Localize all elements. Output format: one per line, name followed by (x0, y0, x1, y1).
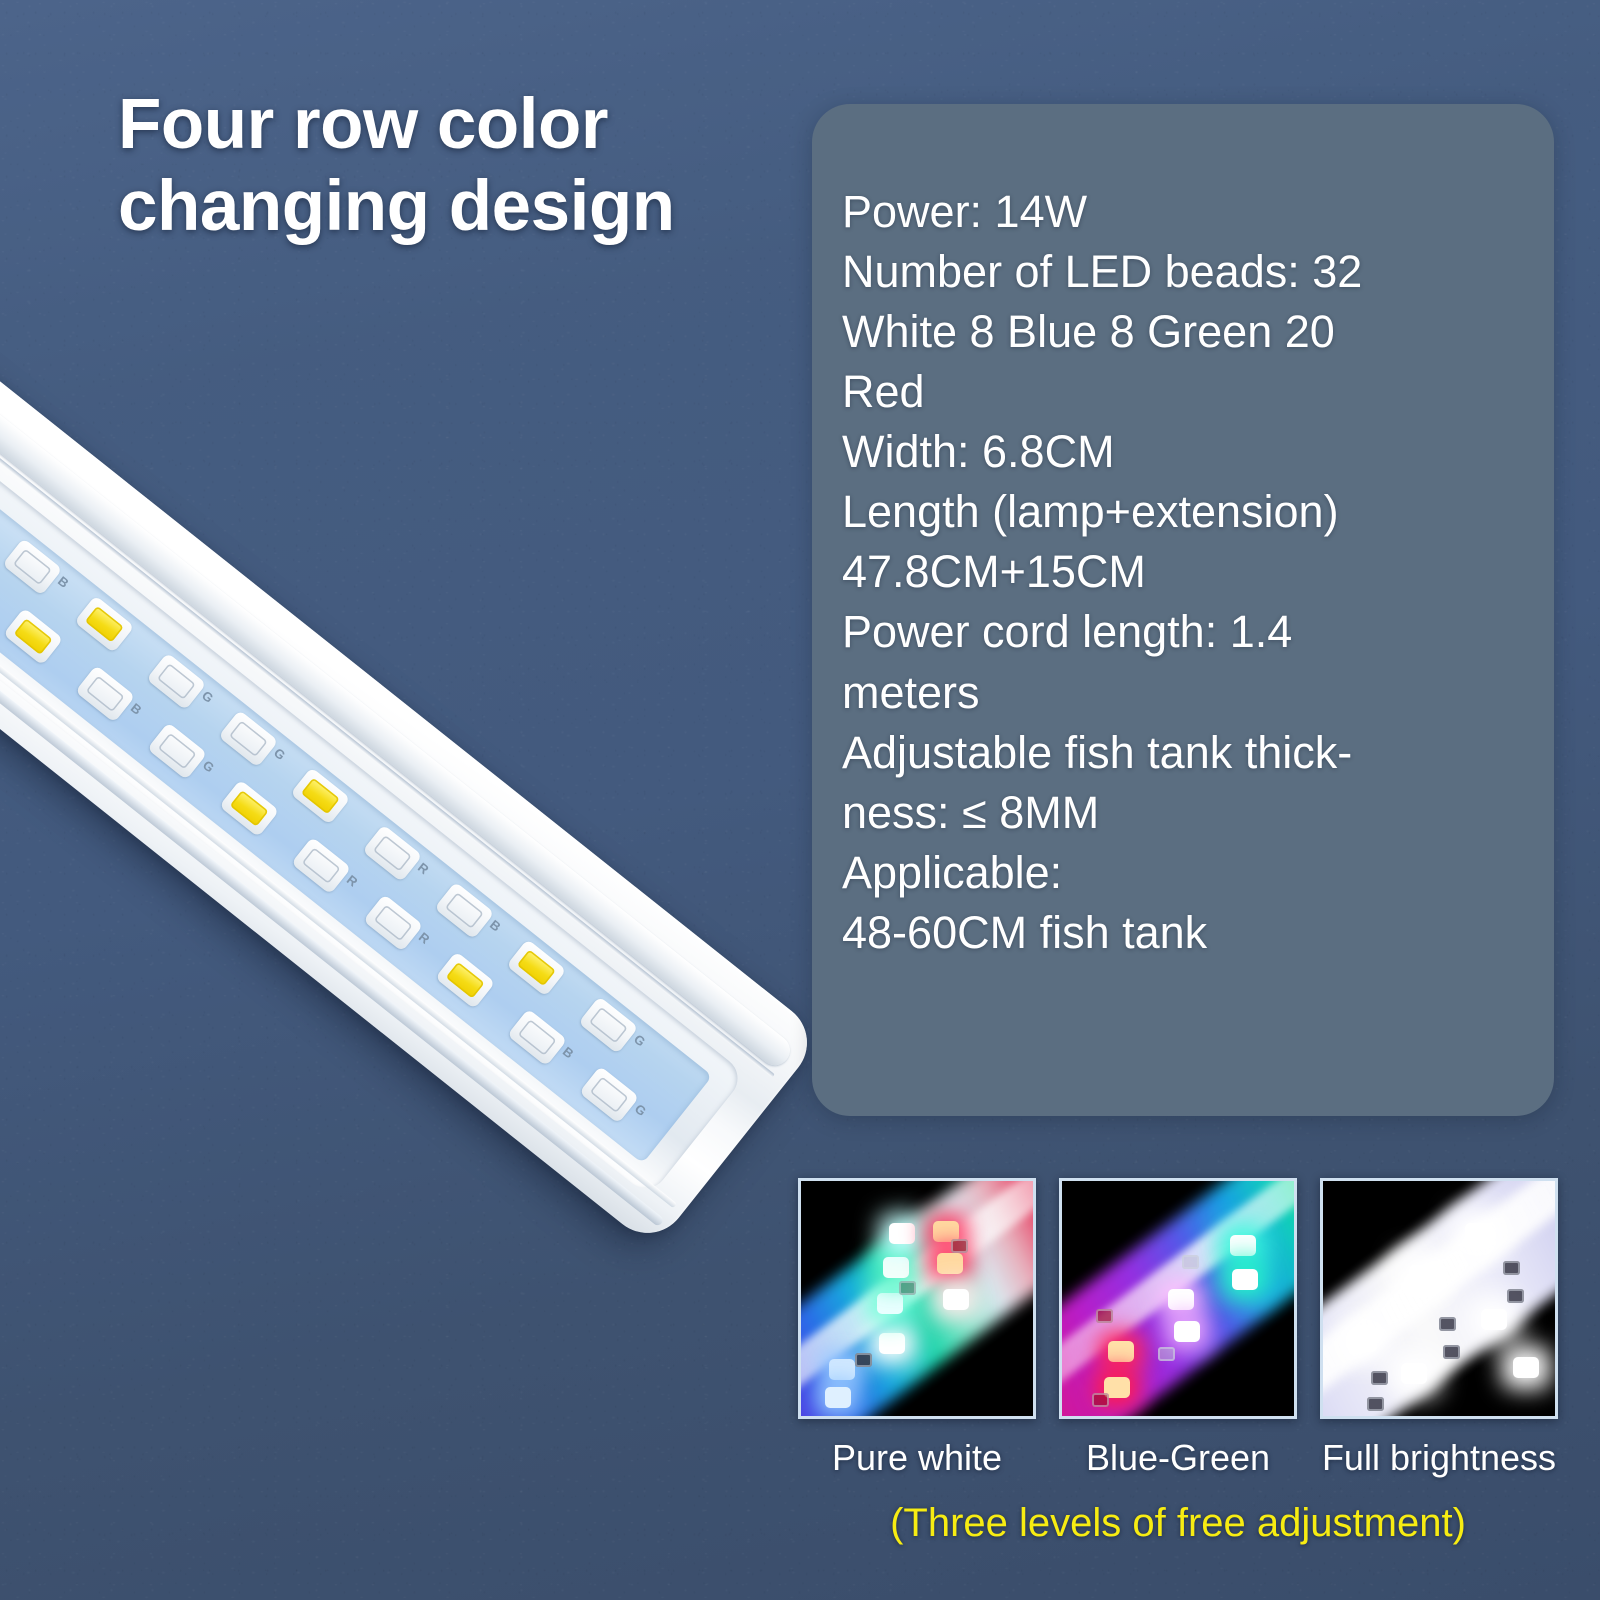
led-dot (1513, 1357, 1539, 1378)
led-chip-cool (146, 653, 206, 711)
thumbnail-caption: Blue-Green (1059, 1437, 1297, 1479)
led-emitter (85, 606, 124, 643)
specification-list: Power: 14WNumber of LED beads: 32White 8… (842, 182, 1536, 963)
led-dot (1232, 1269, 1258, 1290)
led-channel-label: G (200, 757, 218, 775)
led-dot (825, 1387, 851, 1408)
mode-thumbnail-full-brightness[interactable] (1320, 1178, 1558, 1419)
specification-line: 48-60CM fish tank (842, 903, 1536, 963)
led-emitter (158, 733, 197, 770)
led-dot (937, 1253, 963, 1274)
led-chip (1507, 1289, 1524, 1303)
led-chip-cool (363, 894, 423, 952)
led-channel-label: G (199, 688, 217, 706)
led-chip-warm (219, 780, 279, 838)
page-title-line-1: Four row color (118, 84, 798, 166)
product-infographic: RBGGRBGRRBGRRBG Four row color changing … (0, 0, 1600, 1600)
led-channel-label: G (632, 1101, 650, 1119)
led-dot (829, 1359, 855, 1380)
led-channel-label: G (631, 1031, 649, 1049)
led-chip (1443, 1345, 1460, 1359)
led-dot (889, 1223, 915, 1244)
specification-line: Number of LED beads: 32 (842, 242, 1536, 302)
led-chip (855, 1353, 872, 1367)
mode-thumbnail-blue-green[interactable] (1059, 1178, 1297, 1419)
led-channel-label: R (416, 929, 433, 947)
led-chip-warm (506, 939, 566, 997)
lamp-assembly: RBGGRBGRRBGRRBG (0, 283, 823, 1249)
specification-line: Power cord length: 1.4 (842, 602, 1536, 662)
led-emitter (301, 778, 340, 815)
led-dot (1465, 1223, 1491, 1244)
led-channel-label: G (271, 745, 289, 763)
led-chip (1158, 1347, 1175, 1361)
led-chip-cool (75, 665, 135, 723)
led-chip-cool (579, 1066, 639, 1124)
led-emitter (86, 675, 125, 712)
led-cluster (1323, 1181, 1555, 1416)
led-emitter (590, 1076, 629, 1113)
mode-thumbnail-pure-white[interactable] (798, 1178, 1036, 1419)
led-dot (1409, 1265, 1435, 1286)
led-chip (1092, 1393, 1109, 1407)
page-title: Four row color changing design (118, 84, 798, 249)
led-chip-warm (74, 595, 134, 653)
led-emitter (13, 548, 52, 585)
led-chip-cool (2, 538, 62, 596)
led-chip (951, 1239, 968, 1253)
specification-line: Width: 6.8CM (842, 422, 1536, 482)
led-chip (1182, 1255, 1199, 1269)
led-emitter (445, 892, 484, 929)
led-emitter (589, 1007, 628, 1044)
adjustment-note: (Three levels of free adjustment) (798, 1501, 1558, 1546)
led-emitter (446, 962, 485, 999)
led-dot (883, 1257, 909, 1278)
thumbnail-caption: Pure white (798, 1437, 1036, 1479)
thumbnail-row (798, 1178, 1558, 1419)
led-emitter (302, 847, 341, 884)
led-dot (1351, 1331, 1377, 1352)
led-chip (1096, 1309, 1113, 1323)
led-channel-label: B (560, 1044, 577, 1062)
led-cluster (1062, 1181, 1294, 1416)
specification-line: ness: ≤ 8MM (842, 783, 1536, 843)
led-chip-cool (507, 1009, 567, 1067)
led-chip (899, 1281, 916, 1295)
led-channel-label: R (0, 586, 1, 604)
thumbnail-captions: Pure white Blue-Green Full brightness (798, 1437, 1558, 1479)
led-channel-label: R (344, 872, 361, 890)
led-chip-cool (362, 824, 422, 882)
led-emitter (517, 949, 556, 986)
led-dot (1481, 1309, 1507, 1330)
led-emitter (374, 905, 413, 942)
led-dot (877, 1293, 903, 1314)
led-channel-label: R (415, 860, 432, 878)
led-dot (943, 1289, 969, 1310)
led-emitter (157, 663, 196, 700)
light-mode-gallery: Pure white Blue-Green Full brightness (T… (798, 1178, 1558, 1546)
led-dot (1108, 1341, 1134, 1362)
led-chip-cool (434, 882, 494, 940)
specification-line: Applicable: (842, 843, 1536, 903)
led-dot (1168, 1289, 1194, 1310)
led-channel-label: B (128, 700, 145, 718)
led-chip-cool (291, 837, 351, 895)
led-chip-cool (578, 996, 638, 1054)
led-chip-warm (3, 608, 63, 666)
led-chip (1371, 1371, 1388, 1385)
led-dot (879, 1333, 905, 1354)
specification-line: Red (842, 362, 1536, 422)
led-chip-cool (147, 722, 207, 780)
specification-line: Adjustable fish tank thick- (842, 723, 1536, 783)
page-title-line-2: changing design (118, 166, 798, 248)
led-chip (1503, 1261, 1520, 1275)
specification-line: meters (842, 663, 1536, 723)
specification-line: White 8 Blue 8 Green 20 (842, 302, 1536, 362)
thumbnail-caption: Full brightness (1320, 1437, 1558, 1479)
led-chip-cool (218, 710, 278, 768)
led-chip (1439, 1317, 1456, 1331)
specification-line: Power: 14W (842, 182, 1536, 242)
led-emitter (14, 618, 53, 655)
led-emitter (229, 720, 268, 757)
led-chip-warm (290, 767, 350, 825)
specification-panel: Power: 14WNumber of LED beads: 32White 8… (812, 104, 1554, 1116)
led-dot (1401, 1363, 1427, 1384)
led-emitter (230, 790, 269, 827)
led-channel-label: B (55, 573, 72, 591)
specification-line: Length (lamp+extension) (842, 482, 1536, 542)
led-dot (1174, 1321, 1200, 1342)
led-chip-warm (435, 951, 495, 1009)
led-emitter (518, 1019, 557, 1056)
led-dot (1230, 1235, 1256, 1256)
led-emitter (373, 835, 412, 872)
specification-line: 47.8CM+15CM (842, 542, 1536, 602)
led-channel-label: B (487, 917, 504, 935)
led-cluster (801, 1181, 1033, 1416)
led-chip (1367, 1397, 1384, 1411)
